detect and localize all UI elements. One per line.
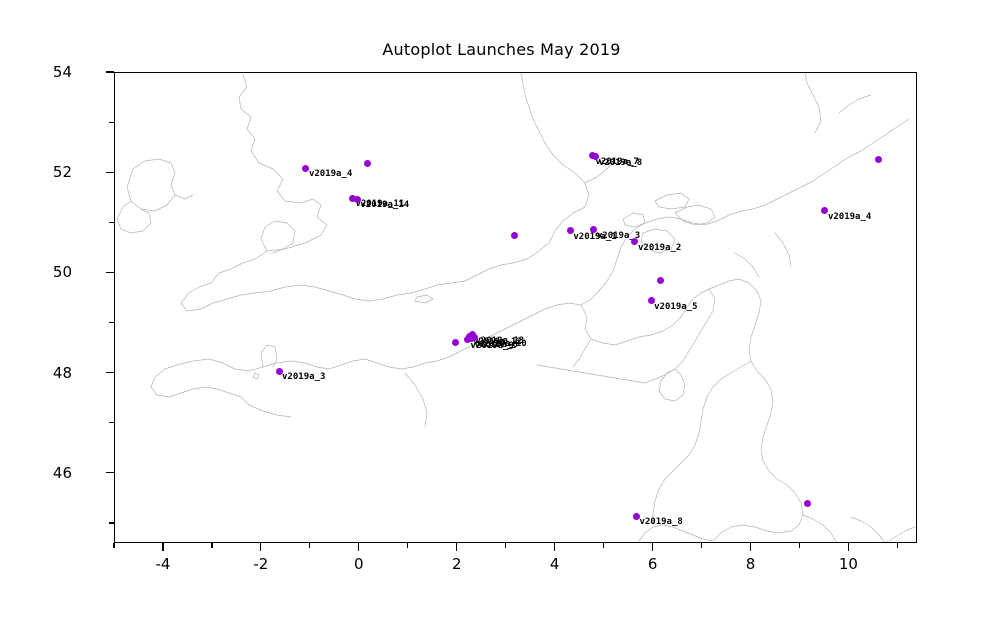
- y-axis-tick: [106, 372, 114, 373]
- page-title: Autoplot Launches May 2019: [0, 40, 1003, 59]
- x-axis-tick: [848, 543, 849, 551]
- x-axis-tick: [652, 543, 653, 551]
- x-axis-tick: [162, 543, 163, 551]
- scatter-plot-axes[interactable]: v2019a_4v2019a_11v2019a_14v2019a_7v2019a…: [114, 72, 917, 543]
- x-axis-minor-tick: [701, 543, 702, 548]
- y-axis-minor-tick: [109, 522, 114, 523]
- x-axis-tick: [750, 543, 751, 551]
- y-axis-minor-tick: [109, 422, 114, 423]
- data-point[interactable]: [452, 339, 459, 346]
- x-axis-tick: [260, 543, 261, 551]
- data-point-label: v2019a_8: [599, 159, 642, 168]
- data-point-label: v2019a_6: [474, 341, 517, 350]
- y-axis-tick: [106, 71, 114, 72]
- data-point[interactable]: [364, 160, 371, 167]
- x-axis-minor-tick: [799, 543, 800, 548]
- x-axis-tick-label: 6: [623, 555, 683, 573]
- x-axis-tick-label: -2: [231, 555, 291, 573]
- y-axis-tick: [106, 272, 114, 273]
- y-axis-minor-tick: [109, 322, 114, 323]
- y-axis-minor-tick: [109, 122, 114, 123]
- basemap-coastlines: [115, 73, 917, 543]
- x-axis-minor-tick: [505, 543, 506, 548]
- figure-canvas: Autoplot Launches May 2019: [0, 0, 1003, 633]
- x-axis-minor-tick: [211, 543, 212, 548]
- data-point-label: v2019a_4: [309, 170, 352, 179]
- y-axis-tick: [106, 472, 114, 473]
- x-axis-tick: [554, 543, 555, 551]
- y-axis-tick-label: 54: [12, 63, 72, 81]
- data-point-label: v2019a_4: [828, 213, 871, 222]
- x-axis-tick-label: -4: [133, 555, 193, 573]
- data-point-label: v2019a_2: [638, 244, 681, 253]
- x-axis-minor-tick: [897, 543, 898, 548]
- x-axis-tick-label: 0: [329, 555, 389, 573]
- y-axis-tick: [106, 172, 114, 173]
- x-axis-tick-label: 10: [818, 555, 878, 573]
- x-axis-minor-tick: [113, 543, 114, 548]
- x-axis-minor-tick: [603, 543, 604, 548]
- data-point[interactable]: [511, 232, 518, 239]
- y-axis-tick-label: 52: [12, 163, 72, 181]
- x-axis-tick-label: 2: [427, 555, 487, 573]
- x-axis-minor-tick: [407, 543, 408, 548]
- y-axis-minor-tick: [109, 222, 114, 223]
- data-point-label: v2019a_8: [639, 518, 682, 527]
- data-point-label: v2019a_14: [360, 201, 409, 210]
- x-axis-tick: [456, 543, 457, 551]
- y-axis-tick-label: 50: [12, 263, 72, 281]
- x-axis-tick-label: 8: [721, 555, 781, 573]
- x-axis-tick: [358, 543, 359, 551]
- data-point-label: v2019a_3: [282, 373, 325, 382]
- x-axis-tick-label: 4: [525, 555, 585, 573]
- data-point-label: v2019a_5: [654, 303, 697, 312]
- x-axis-minor-tick: [309, 543, 310, 548]
- y-axis-tick-label: 46: [12, 464, 72, 482]
- y-axis-tick-label: 48: [12, 364, 72, 382]
